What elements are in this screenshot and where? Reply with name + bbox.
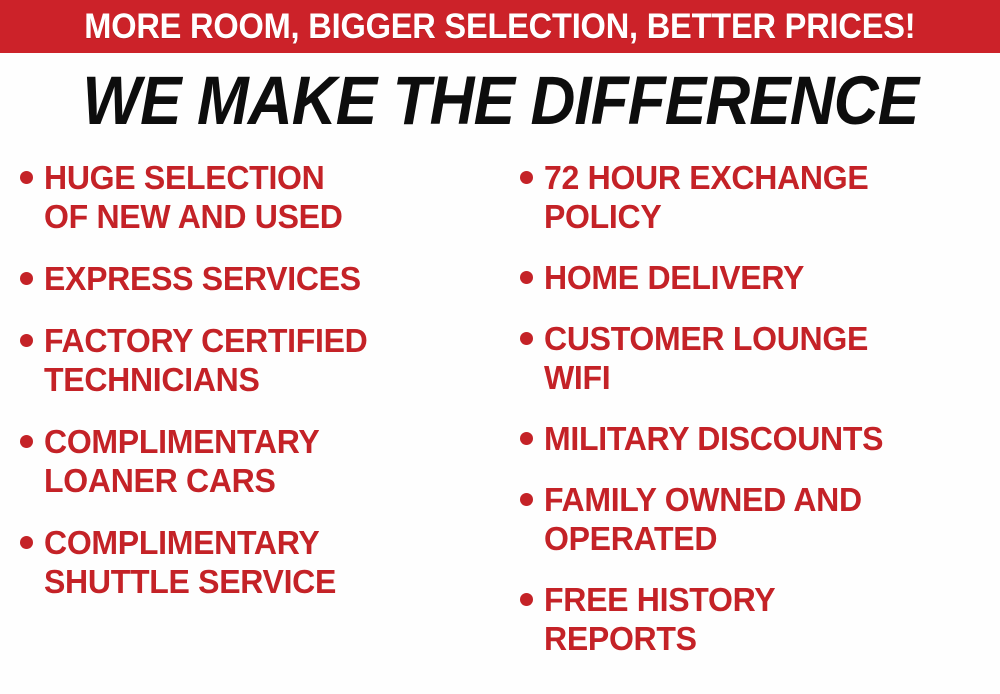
list-item: FACTORY CERTIFIED TECHNICIANS [20,321,500,399]
feature-label: FACTORY CERTIFIED TECHNICIANS [44,321,367,399]
list-item: FREE HISTORY REPORTS [520,580,1000,658]
bullet-dot-icon [20,272,33,285]
headline: WE MAKE THE DIFFERENCE [0,66,1000,136]
bullet-dot-icon [520,271,533,284]
list-item: COMPLIMENTARY LOANER CARS [20,422,500,500]
feature-label: COMPLIMENTARY SHUTTLE SERVICE [44,523,336,601]
list-item: COMPLIMENTARY SHUTTLE SERVICE [20,523,500,601]
bullet-dot-icon [20,334,33,347]
feature-label: COMPLIMENTARY LOANER CARS [44,422,319,500]
bullet-dot-icon [20,171,33,184]
promo-banner-text: MORE ROOM, BIGGER SELECTION, BETTER PRIC… [84,9,915,44]
features-section: HUGE SELECTION OF NEW AND USED EXPRESS S… [0,158,1000,688]
feature-label: HUGE SELECTION OF NEW AND USED [44,158,343,236]
advertisement-banner: MORE ROOM, BIGGER SELECTION, BETTER PRIC… [0,0,1000,694]
bullet-dot-icon [520,332,533,345]
promo-banner: MORE ROOM, BIGGER SELECTION, BETTER PRIC… [0,0,1000,53]
features-left-column: HUGE SELECTION OF NEW AND USED EXPRESS S… [0,158,500,624]
feature-label: CUSTOMER LOUNGE WIFI [544,319,868,397]
list-item: CUSTOMER LOUNGE WIFI [520,319,1000,397]
bullet-dot-icon [520,493,533,506]
bullet-dot-icon [20,435,33,448]
bullet-dot-icon [520,432,533,445]
feature-label: 72 HOUR EXCHANGE POLICY [544,158,868,236]
headline-text: WE MAKE THE DIFFERENCE [82,66,918,136]
features-right-column: 72 HOUR EXCHANGE POLICY HOME DELIVERY CU… [500,158,1000,680]
list-item: EXPRESS SERVICES [20,259,500,298]
list-item: MILITARY DISCOUNTS [520,419,1000,458]
feature-label: EXPRESS SERVICES [44,259,361,298]
feature-label: FAMILY OWNED AND OPERATED [544,480,862,558]
bullet-dot-icon [20,536,33,549]
bullet-dot-icon [520,593,533,606]
bullet-dot-icon [520,171,533,184]
feature-label: FREE HISTORY REPORTS [544,580,775,658]
list-item: FAMILY OWNED AND OPERATED [520,480,1000,558]
list-item: 72 HOUR EXCHANGE POLICY [520,158,1000,236]
feature-label: HOME DELIVERY [544,258,804,297]
feature-label: MILITARY DISCOUNTS [544,419,883,458]
list-item: HOME DELIVERY [520,258,1000,297]
list-item: HUGE SELECTION OF NEW AND USED [20,158,500,236]
